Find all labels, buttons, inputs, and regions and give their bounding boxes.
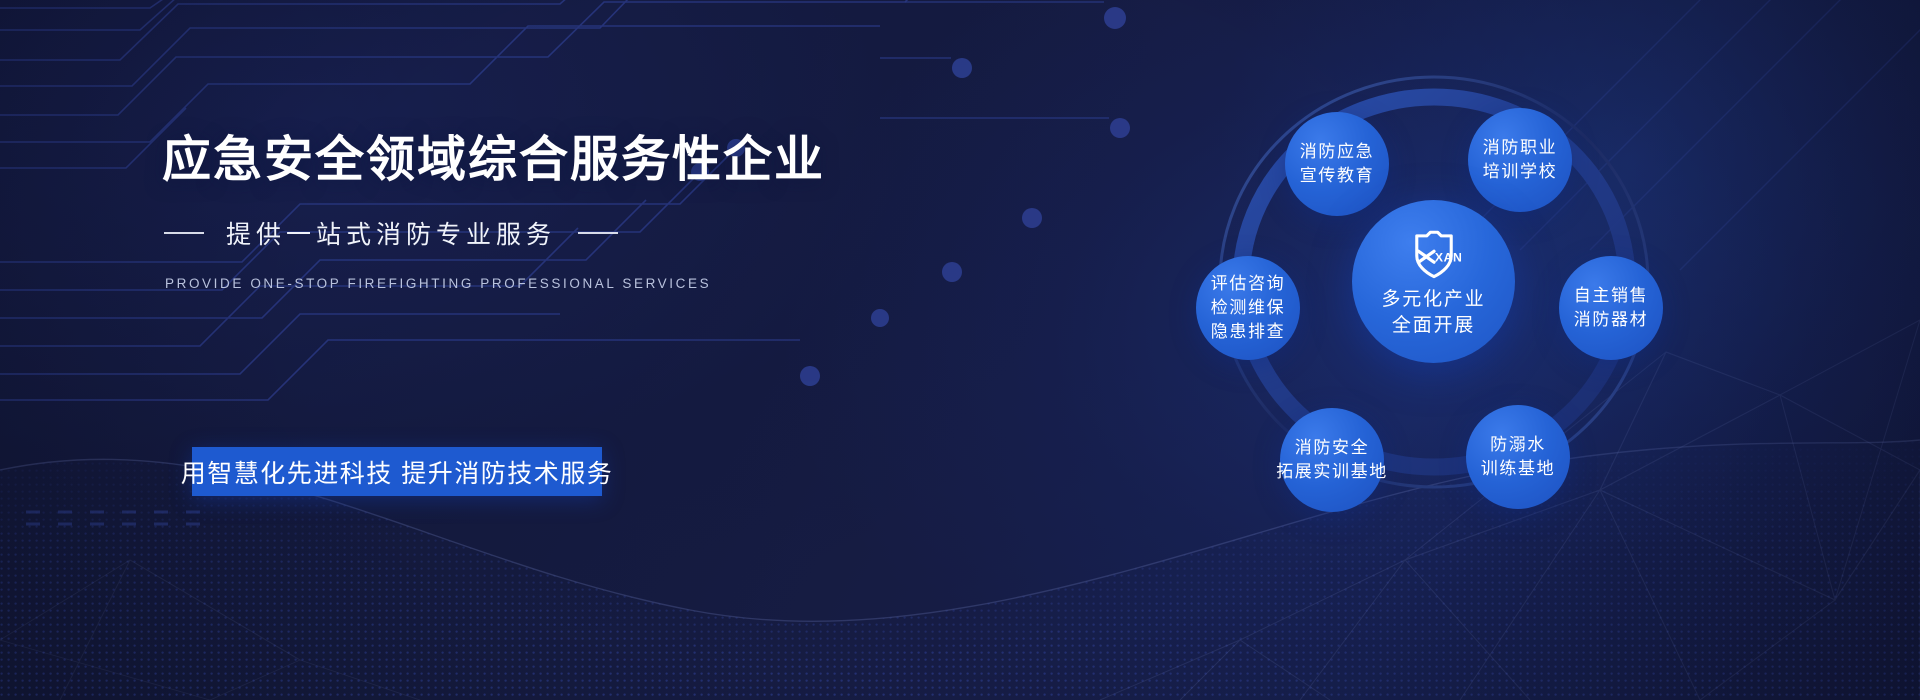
dash-left-icon	[164, 232, 204, 234]
node-label-line2: 宣传教育	[1300, 164, 1374, 188]
node-label-line2: 拓展实训基地	[1276, 460, 1388, 484]
node-label-line2: 检测维保	[1211, 296, 1285, 320]
subtitle: 提供一站式消防专业服务	[226, 215, 556, 251]
node-label-line3: 隐患排查	[1211, 320, 1285, 344]
hero-text-block: 应急安全领域综合服务性企业 提供一站式消防专业服务 PROVIDE ONE-ST…	[162, 133, 922, 291]
dash-right-icon	[578, 232, 618, 234]
services-circle-diagram: 消防应急 宣传教育 消防职业 培训学校 自主销售 消防器材 防溺水 训练基地 消…	[1100, 60, 1800, 620]
english-tagline: PROVIDE ONE-STOP FIREFIGHTING PROFESSION…	[162, 276, 922, 291]
center-node-diversified-industry[interactable]: XAN 多元化产业 全面开展	[1352, 200, 1515, 363]
center-label-line1: 多元化产业	[1381, 287, 1485, 312]
service-node-safety-training-base[interactable]: 消防安全 拓展实训基地	[1280, 408, 1384, 512]
cta-button[interactable]: 用智慧化先进科技 提升消防技术服务	[192, 447, 602, 496]
node-label-line2: 消防器材	[1574, 308, 1648, 332]
node-label-line1: 评估咨询	[1211, 272, 1285, 296]
center-node-label: 多元化产业 全面开展	[1381, 287, 1485, 337]
node-label-line1: 消防应急	[1300, 140, 1374, 164]
node-label-line1: 自主销售	[1574, 284, 1648, 308]
node-label-line1: 防溺水	[1490, 433, 1546, 457]
service-node-vocational-training-school[interactable]: 消防职业 培训学校	[1468, 108, 1572, 212]
page-title: 应急安全领域综合服务性企业	[162, 133, 922, 188]
node-label-line1: 消防安全	[1295, 436, 1369, 460]
service-node-anti-drowning-training-base[interactable]: 防溺水 训练基地	[1466, 405, 1570, 509]
xan-shield-logo-icon: XAN	[1405, 225, 1463, 283]
node-label-line1: 消防职业	[1483, 136, 1557, 160]
node-label-line2: 培训学校	[1483, 160, 1557, 184]
hero-banner: 应急安全领域综合服务性企业 提供一站式消防专业服务 PROVIDE ONE-ST…	[0, 0, 1920, 700]
service-node-fire-emergency-education[interactable]: 消防应急 宣传教育	[1285, 112, 1389, 216]
service-node-equipment-sales[interactable]: 自主销售 消防器材	[1559, 256, 1663, 360]
logo-text: XAN	[1434, 251, 1461, 265]
center-label-line2: 全面开展	[1381, 313, 1485, 338]
node-label-line2: 训练基地	[1481, 457, 1555, 481]
service-node-assessment-inspection[interactable]: 评估咨询 检测维保 隐患排查	[1196, 256, 1300, 360]
subtitle-row: 提供一站式消防专业服务	[162, 215, 922, 251]
